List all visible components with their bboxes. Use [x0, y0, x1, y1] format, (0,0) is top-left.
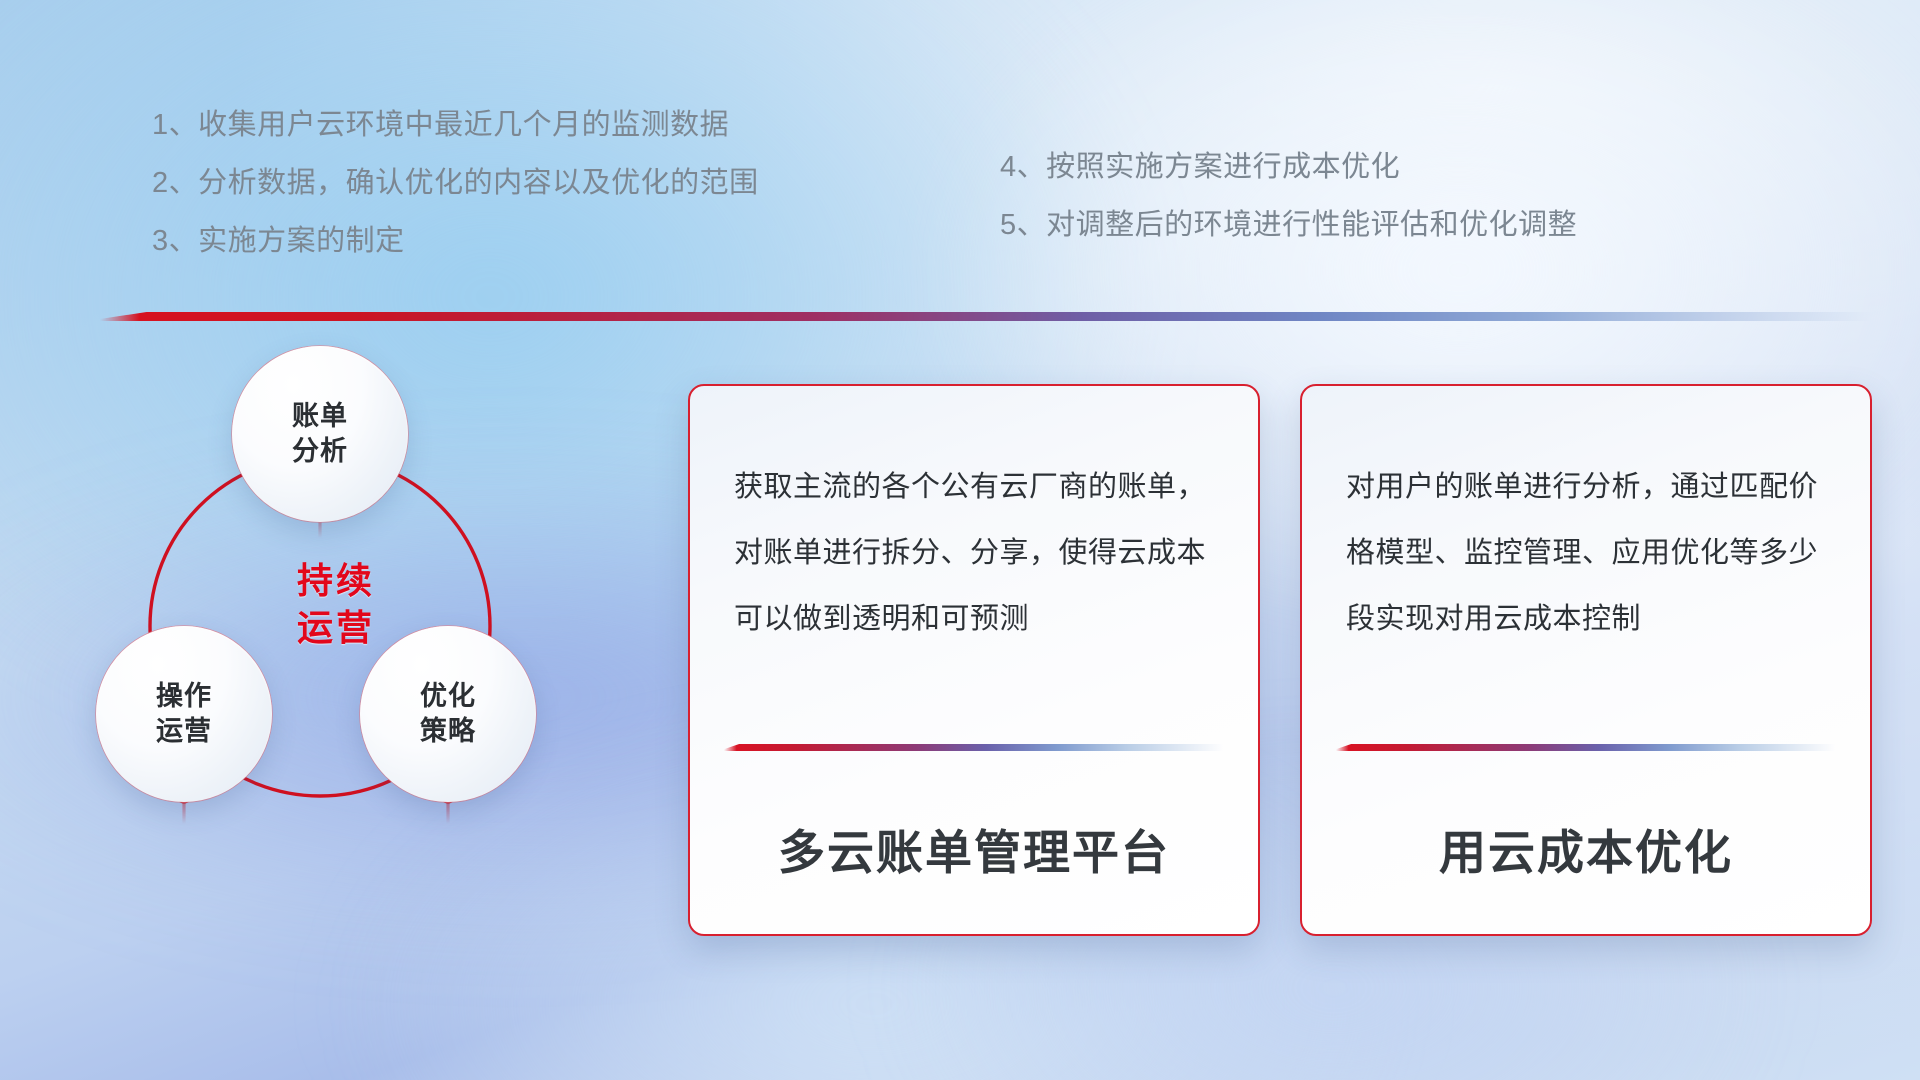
section-divider-bar — [100, 312, 1890, 321]
step-item-4: 4、按照实施方案进行成本优化 — [1000, 138, 1577, 196]
section-divider — [100, 312, 1890, 321]
info-card-cloud-cost-optimization[interactable]: 对用户的账单进行分析，通过匹配价格模型、监控管理、应用优化等多少段实现对用云成本… — [1300, 384, 1872, 936]
center-label-line-1: 持续 — [246, 558, 426, 605]
diagram-bubble-ops-operation[interactable]: 操作 运营 — [96, 626, 272, 802]
step-item-1: 1、收集用户云环境中最近几个月的监测数据 — [152, 96, 759, 154]
bubble-label-line-1: 账单 — [292, 399, 348, 434]
continuous-operation-diagram: 账单 分析 操作 运营 优化 策略 持续 运营 — [96, 346, 656, 966]
info-card-multi-cloud-bill-platform[interactable]: 获取主流的各个公有云厂商的账单，对账单进行拆分、分享，使得云成本可以做到透明和可… — [688, 384, 1260, 936]
bubble-label-line-2: 运营 — [156, 714, 212, 749]
bubble-label-optimization-strategy: 优化 策略 — [420, 679, 476, 748]
card-divider-rule — [724, 744, 1228, 751]
step-item-5: 5、对调整后的环境进行性能评估和优化调整 — [1000, 196, 1577, 254]
bubble-label-line-2: 策略 — [420, 714, 476, 749]
diagram-center-label: 持续 运营 — [246, 558, 426, 652]
step-item-3: 3、实施方案的制定 — [152, 212, 759, 270]
bubble-label-line-1: 操作 — [156, 679, 212, 714]
diagram-bubble-bill-analysis[interactable]: 账单 分析 — [232, 346, 408, 522]
center-label-line-2: 运营 — [246, 605, 426, 652]
bubble-label-line-1: 优化 — [420, 679, 476, 714]
bubble-label-bill-analysis: 账单 分析 — [292, 399, 348, 468]
card-title: 用云成本优化 — [1302, 814, 1870, 883]
bubble-label-line-2: 分析 — [292, 434, 348, 469]
card-title: 多云账单管理平台 — [690, 814, 1258, 883]
process-steps-section: 1、收集用户云环境中最近几个月的监测数据 2、分析数据，确认优化的内容以及优化的… — [0, 96, 1920, 286]
steps-right-column: 4、按照实施方案进行成本优化 5、对调整后的环境进行性能评估和优化调整 — [1000, 138, 1577, 254]
card-divider-rule — [1336, 744, 1840, 751]
bubble-label-ops-operation: 操作 运营 — [156, 679, 212, 748]
steps-left-column: 1、收集用户云环境中最近几个月的监测数据 2、分析数据，确认优化的内容以及优化的… — [152, 96, 759, 270]
step-item-2: 2、分析数据，确认优化的内容以及优化的范围 — [152, 154, 759, 212]
diagram-bubble-optimization-strategy[interactable]: 优化 策略 — [360, 626, 536, 802]
card-body-text: 对用户的账单进行分析，通过匹配价格模型、监控管理、应用优化等多少段实现对用云成本… — [1346, 454, 1836, 652]
card-body-text: 获取主流的各个公有云厂商的账单，对账单进行拆分、分享，使得云成本可以做到透明和可… — [734, 454, 1224, 652]
